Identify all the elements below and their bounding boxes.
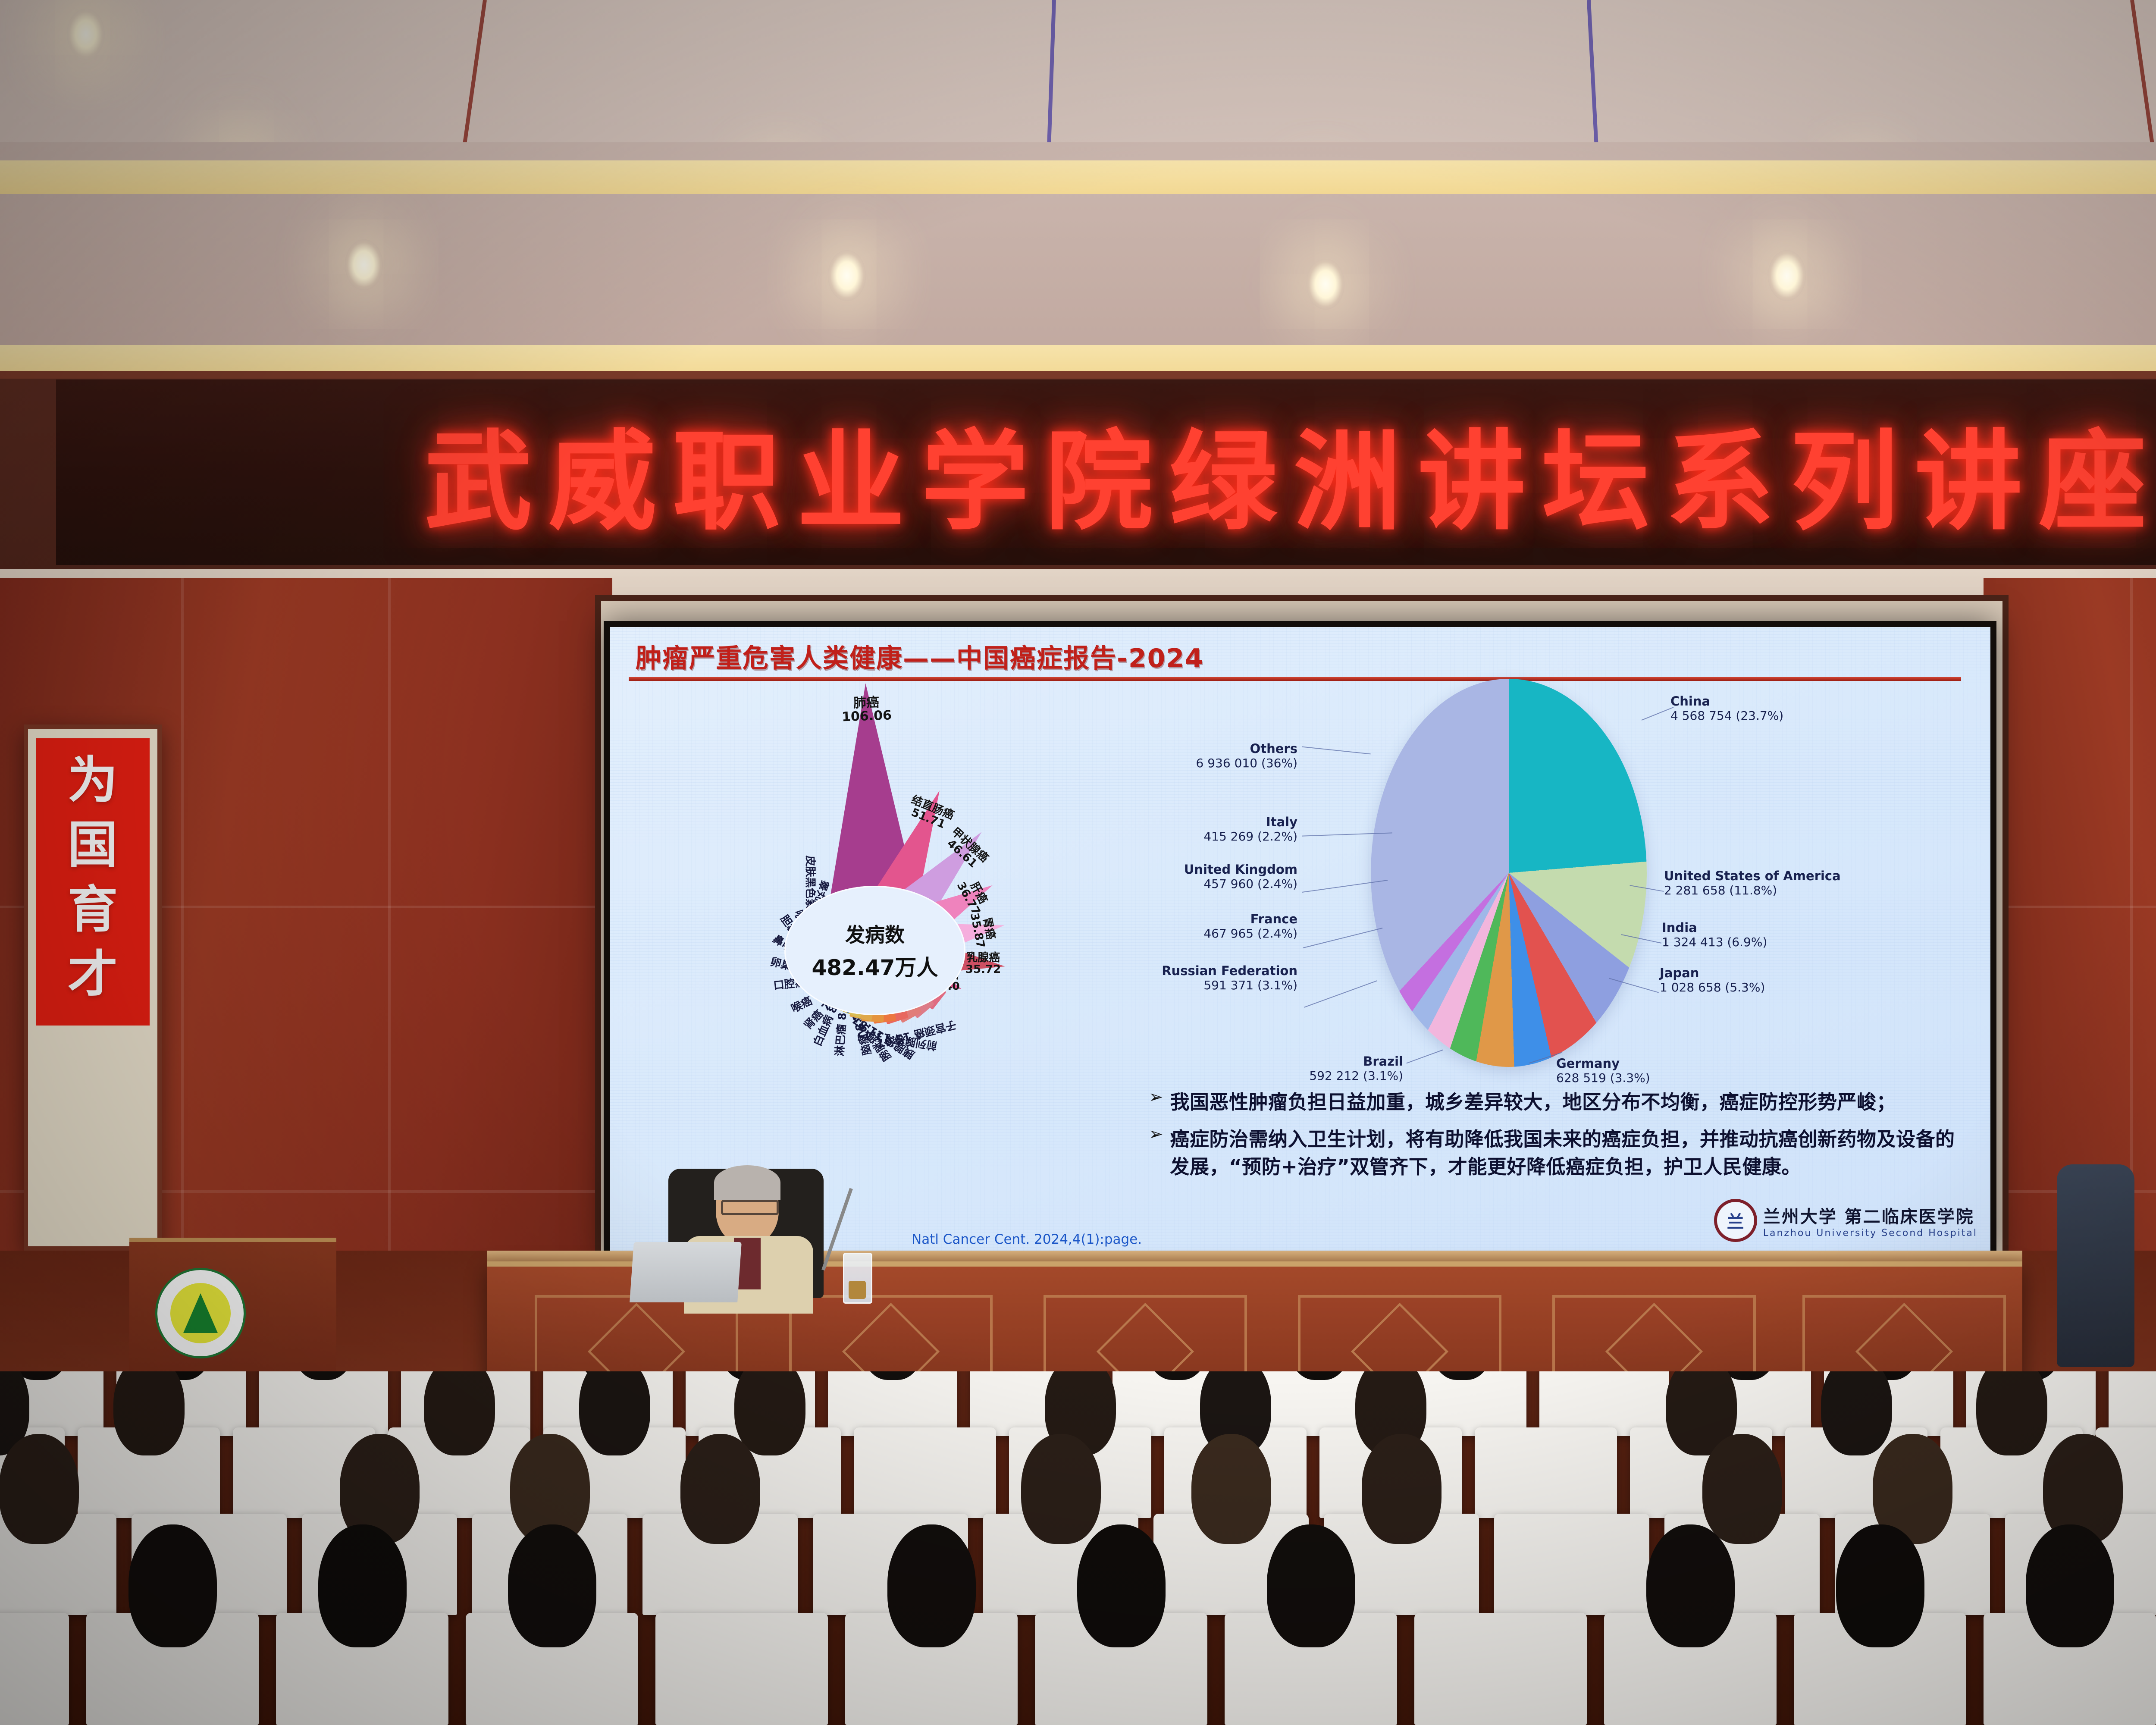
downlight-row2 (828, 250, 866, 301)
pie-label-india: India 1 324 413 (6.9%) (1662, 920, 1767, 949)
audience-head (2026, 1524, 2114, 1647)
college-emblem-icon (155, 1268, 246, 1358)
audience-seat (2109, 1371, 2156, 1436)
pie-label-others: Others 6 936 010 (36%) (1177, 741, 1297, 770)
audience-head (1267, 1524, 1355, 1647)
slide-bullet-item: ➢ 我国恶性肿瘤负担日益加重，城乡差异较大，地区分布不均衡，癌症防控形势严峻； (1149, 1088, 1959, 1116)
lanzhou-university-emblem-icon: 兰 (1714, 1199, 1757, 1242)
audience-head (1646, 1524, 1735, 1647)
hospital-logo: 兰 兰州大学 第二临床医学院 Lanzhou University Second… (1714, 1199, 1977, 1242)
audience-seat (1414, 1613, 1587, 1725)
couplet-left-char-3: 育 (68, 885, 118, 935)
speaker-glasses-icon (721, 1200, 779, 1215)
pie-label-france: France 467 965 (2.4%) (1170, 912, 1297, 941)
audience-head (128, 1524, 217, 1647)
audience-head (0, 1434, 79, 1544)
pie-label-brazil: Brazil 592 212 (3.1%) (1300, 1054, 1403, 1083)
audience-head (1702, 1434, 1782, 1544)
speaker-hair (714, 1165, 780, 1200)
pie-label-usa: United States of America 2 281 658 (11.8… (1664, 869, 1841, 897)
audience-seat (0, 1613, 69, 1725)
downlight-row2 (345, 239, 383, 290)
slide-bullet-item: ➢ 癌症防治需纳入卫生计划，将有助降低我国未来的癌症负担，并推动抗癌创新药物及设… (1149, 1126, 1959, 1181)
audience-head (579, 1371, 650, 1455)
hospital-logo-cn: 兰州大学 第二临床医学院 (1763, 1203, 1977, 1228)
audience-head (1077, 1524, 1166, 1647)
audience-head (318, 1524, 407, 1647)
audience-seat (1539, 1371, 1669, 1436)
pie-label-italy: Italy 415 269 (2.2%) (1175, 815, 1297, 844)
pie-label-japan: Japan 1 028 658 (5.3%) (1660, 966, 1765, 994)
lecture-hall-photo: 武威职业学院绿洲讲坛系列讲座 为 国 育 才 为 党 育 人 肿 (0, 0, 2156, 1725)
pie-label-russia: Russian Federation 591 371 (3.1%) (1155, 963, 1297, 992)
presentation-slide: 肿瘤严重危害人类健康——中国癌症报告-2024 发病数 482.47万人 肺癌1… (610, 627, 1990, 1253)
downlight-row2 (1307, 259, 1344, 310)
country-pie-chart: China 4 568 754 (23.7%) United States of… (1129, 653, 1974, 1110)
bullet-text: 癌症防治需纳入卫生计划，将有助降低我国未来的癌症负担，并推动抗癌创新药物及设备的… (1170, 1126, 1959, 1181)
side-office-chair (2057, 1164, 2134, 1367)
audience-head (1821, 1371, 1892, 1455)
downlight-row1 (67, 9, 105, 60)
audience-seat (828, 1371, 957, 1436)
couplet-left-char-2: 国 (68, 820, 118, 870)
audience-seat (1475, 1427, 1617, 1518)
audience-seat (854, 1427, 996, 1518)
rose-chart: 发病数 482.47万人 肺癌106.06 结直肠癌51.71 甲状腺癌46.6… (627, 683, 1123, 1183)
audience-seat (259, 1371, 388, 1436)
slide-bullet-list: ➢ 我国恶性肿瘤负担日益加重，城乡差异较大，地区分布不均衡，癌症防控形势严峻； … (1149, 1088, 1959, 1190)
downlight-row2 (1768, 250, 1806, 301)
couplet-banner-left: 为 国 育 才 (24, 724, 162, 1251)
audience-seat (1494, 1514, 1649, 1615)
audience-head (734, 1371, 805, 1455)
audience-head (887, 1524, 976, 1647)
pie-graphic (1371, 679, 1647, 1067)
pie-label-china: China 4 568 754 (23.7%) (1670, 694, 1783, 723)
audience-seating (0, 1371, 2156, 1725)
audience-head (113, 1371, 185, 1455)
audience-head (1191, 1434, 1271, 1544)
ceiling-cove-glow (0, 160, 2156, 194)
audience-head (1976, 1371, 2047, 1455)
slide-citation: Natl Cancer Cent. 2024,4(1):page. (912, 1232, 1142, 1247)
rose-center-value: 482.47万人 (812, 950, 938, 982)
pie-label-germany: Germany 628 519 (3.3%) (1556, 1056, 1650, 1085)
audience-head (1021, 1434, 1101, 1544)
pie-label-uk: United Kingdom 457 960 (2.4%) (1147, 862, 1297, 891)
rose-center-label: 发病数 482.47万人 (784, 886, 965, 1015)
couplet-left-char-4: 才 (68, 950, 118, 1000)
bullet-arrow-icon: ➢ (1149, 1088, 1163, 1116)
laptop (630, 1242, 742, 1302)
audience-head (424, 1371, 495, 1455)
projection-screen: 肿瘤严重危害人类健康——中国癌症报告-2024 发病数 482.47万人 肺癌1… (604, 621, 1996, 1259)
bullet-text: 我国恶性肿瘤负担日益加重，城乡差异较大，地区分布不均衡，癌症防控形势严峻； (1170, 1088, 1896, 1116)
hospital-logo-en: Lanzhou University Second Hospital (1763, 1228, 1977, 1239)
audience-head (1836, 1524, 1924, 1647)
tea-cup (843, 1253, 872, 1304)
led-banner-screen: 武威职业学院绿洲讲坛系列讲座 (56, 379, 2156, 565)
emblem-tree-icon (183, 1293, 218, 1333)
slide-title: 肿瘤严重危害人类健康——中国癌症报告-2024 (636, 637, 1204, 675)
rose-center-title: 发病数 (845, 919, 905, 948)
led-banner-text: 武威职业学院绿洲讲坛系列讲座 (424, 394, 2156, 550)
audience-seat (655, 1613, 828, 1725)
bullet-arrow-icon: ➢ (1149, 1126, 1163, 1181)
audience-head (508, 1524, 596, 1647)
audience-head (680, 1434, 760, 1544)
audience-head (1362, 1434, 1442, 1544)
couplet-left-char-1: 为 (68, 756, 118, 806)
